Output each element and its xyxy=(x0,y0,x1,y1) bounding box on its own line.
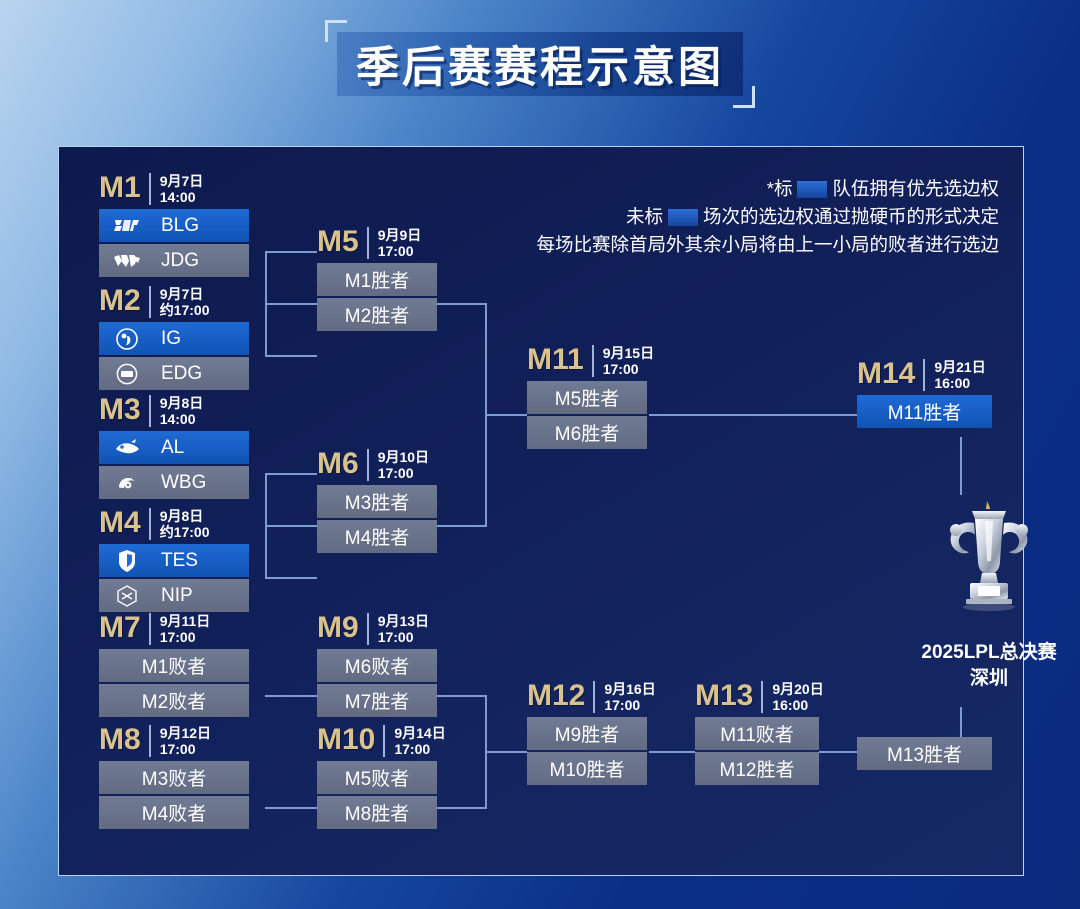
match-time-m6: 17:00 xyxy=(378,465,429,481)
wbg-logo xyxy=(107,473,147,493)
match-time-m8: 17:00 xyxy=(160,741,211,757)
match-datetime-m14: 9月21日 16:00 xyxy=(923,359,985,391)
match-slot-label-m6-1: M4胜者 xyxy=(317,523,437,550)
match-date-m4: 9月8日 xyxy=(160,508,210,524)
match-datetime-m12: 9月16日 17:00 xyxy=(593,681,655,713)
match-time-m11: 17:00 xyxy=(603,361,654,377)
match-time-m5: 17:00 xyxy=(378,243,422,259)
match-date-m11: 9月15日 xyxy=(603,345,654,361)
legend-line-1-before: *标 xyxy=(767,175,793,203)
match-date-m5: 9月9日 xyxy=(378,227,422,243)
page-title: 季后赛赛程示意图 xyxy=(337,32,743,96)
match-slot-label-m2-0: IG xyxy=(147,328,181,350)
legend-line-1-after: 队伍拥有优先选边权 xyxy=(832,175,999,203)
match-slot-label-m11-0: M5胜者 xyxy=(527,384,647,411)
match-time-m13: 16:00 xyxy=(772,697,823,713)
page-title-banner: 季后赛赛程示意图 xyxy=(325,20,755,108)
connector-m7-out xyxy=(265,695,317,697)
match-slot-label-m7-1: M2败者 xyxy=(99,687,249,714)
match-code-m7: M7 xyxy=(99,613,141,643)
match-slot-m11-1[interactable]: M6胜者 xyxy=(527,416,647,449)
match-slot-m1-1[interactable]: JDG xyxy=(99,244,249,277)
connector-m13-out xyxy=(819,751,857,753)
banner-background: 季后赛赛程示意图 xyxy=(337,32,743,96)
match-slot-label-m3-0: AL xyxy=(147,437,184,459)
match-header-m12: M12 9月16日 17:00 xyxy=(527,681,656,715)
match-code-m12: M12 xyxy=(527,681,585,711)
connector-to-m11 xyxy=(485,414,527,416)
nip-logo xyxy=(107,585,147,607)
match-slot-m13-1[interactable]: M12胜者 xyxy=(695,752,819,785)
match-slot-label-m9-0: M6败者 xyxy=(317,652,437,679)
match-datetime-m1: 9月7日 14:00 xyxy=(149,173,204,205)
match-slot-label-m6-0: M3胜者 xyxy=(317,488,437,515)
legend-line-3-text: 每场比赛除首局外其余小局将由上一小局的败者进行选边 xyxy=(536,231,999,259)
match-slot-m12-1[interactable]: M10胜者 xyxy=(527,752,647,785)
match-slot-m14-0[interactable]: M11胜者 xyxy=(857,395,992,428)
match-block-m8: M8 9月12日 17:00 M3败者 M4败者 xyxy=(99,725,249,829)
match-slot-label-m13-0: M11败者 xyxy=(695,720,819,747)
match-header-m13: M13 9月20日 16:00 xyxy=(695,681,824,715)
match-slot-m11-0[interactable]: M5胜者 xyxy=(527,381,647,414)
match-header-m8: M8 9月12日 17:00 xyxy=(99,725,249,759)
connector-m1-out xyxy=(265,251,317,253)
match-code-m11: M11 xyxy=(527,345,584,375)
match-header-m7: M7 9月11日 17:00 xyxy=(99,613,249,647)
match-slot-label-m10-1: M8胜者 xyxy=(317,799,437,826)
match-slot-m5-0[interactable]: M1胜者 xyxy=(317,263,437,296)
match-slot-m5-1[interactable]: M2胜者 xyxy=(317,298,437,331)
match-header-m9: M9 9月13日 17:00 xyxy=(317,613,437,647)
match-slot-m8-0[interactable]: M3败者 xyxy=(99,761,249,794)
match-date-m1: 9月7日 xyxy=(160,173,204,189)
match-slot-m10-0[interactable]: M5败者 xyxy=(317,761,437,794)
connector-m12-to-m13 xyxy=(649,751,695,753)
match-code-m10: M10 xyxy=(317,725,375,755)
connector-m11-to-m14 xyxy=(649,414,857,416)
connector-m14-to-trophy xyxy=(960,437,962,495)
match-slot-m10-1[interactable]: M8胜者 xyxy=(317,796,437,829)
match-time-m10: 17:00 xyxy=(394,741,445,757)
legend: *标 队伍拥有优先选边权 未标 场次的选边权通过抛硬币的形式决定 每场比赛除首局… xyxy=(536,175,999,259)
match-block-m3: M3 9月8日 14:00 AL WBG xyxy=(99,395,249,499)
match-slot-label-m8-0: M3败者 xyxy=(99,764,249,791)
match-time-m2: 约17:00 xyxy=(160,302,210,318)
edg-logo xyxy=(107,363,147,385)
connector-m6-out xyxy=(431,525,487,527)
trophy-caption-line2: 深圳 xyxy=(899,666,1079,692)
match-time-m7: 17:00 xyxy=(160,629,211,645)
tes-logo xyxy=(107,549,147,573)
connector-m9-out xyxy=(431,695,487,697)
match-date-m3: 9月8日 xyxy=(160,395,204,411)
match-block-m4: M4 9月8日 约17:00 TES NIP xyxy=(99,508,249,612)
match-block-m11: M11 9月15日 17:00 M5胜者 M6胜者 xyxy=(527,345,654,449)
match-time-m1: 14:00 xyxy=(160,189,204,205)
match-block-m2: M2 9月7日 约17:00 IG EDG xyxy=(99,286,249,390)
match-datetime-m6: 9月10日 17:00 xyxy=(367,449,429,481)
legend-line-2-after: 场次的选边权通过抛硬币的形式决定 xyxy=(703,203,999,231)
match-time-m12: 17:00 xyxy=(604,697,655,713)
match-header-m14: M14 9月21日 16:00 xyxy=(857,359,992,393)
match-header-m1: M1 9月7日 14:00 xyxy=(99,173,249,207)
match-header-m2: M2 9月7日 约17:00 xyxy=(99,286,249,320)
match-datetime-m9: 9月13日 17:00 xyxy=(367,613,429,645)
match-date-m6: 9月10日 xyxy=(378,449,429,465)
blg-logo xyxy=(107,217,147,235)
connector-m3-out xyxy=(265,473,317,475)
match-code-m1: M1 xyxy=(99,173,141,203)
connector-to-m5 xyxy=(265,303,317,305)
legend-swatch-icon xyxy=(797,181,827,198)
match-slot-m7-1[interactable]: M2败者 xyxy=(99,684,249,717)
match-slot-m6-0[interactable]: M3胜者 xyxy=(317,485,437,518)
match-date-m7: 9月11日 xyxy=(160,613,211,629)
jdg-logo xyxy=(107,252,147,270)
match-code-m8: M8 xyxy=(99,725,141,755)
connector-m4-out xyxy=(265,577,317,579)
match-slot-m1-0[interactable]: BLG xyxy=(99,209,249,242)
match-time-m4: 约17:00 xyxy=(160,524,210,540)
match-code-m4: M4 xyxy=(99,508,141,538)
match-slot-m7-0[interactable]: M1败者 xyxy=(99,649,249,682)
match-slot-label-m4-1: NIP xyxy=(147,585,193,607)
connector-m5-out xyxy=(431,303,487,305)
match-datetime-m3: 9月8日 14:00 xyxy=(149,395,204,427)
match-datetime-m8: 9月12日 17:00 xyxy=(149,725,211,757)
match-code-m3: M3 xyxy=(99,395,141,425)
match-slot-m8-1[interactable]: M4败者 xyxy=(99,796,249,829)
bracket-panel: *标 队伍拥有优先选边权 未标 场次的选边权通过抛硬币的形式决定 每场比赛除首局… xyxy=(58,146,1024,876)
match-slot-m2-0[interactable]: IG xyxy=(99,322,249,355)
match-date-m14: 9月21日 xyxy=(934,359,985,375)
match-date-m2: 9月7日 xyxy=(160,286,210,302)
match-datetime-m13: 9月20日 16:00 xyxy=(761,681,823,713)
match-slot-label-m3-1: WBG xyxy=(147,472,206,494)
match-slot-label-m9-1: M7胜者 xyxy=(317,687,437,714)
match-header-m5: M5 9月9日 17:00 xyxy=(317,227,437,261)
match-time-m14: 16:00 xyxy=(934,375,985,391)
match-slot-m2-1[interactable]: EDG xyxy=(99,357,249,390)
match-slot-label-m12-0: M9胜者 xyxy=(527,720,647,747)
match-slot-m4-1[interactable]: NIP xyxy=(99,579,249,612)
match-block-m1: M1 9月7日 14:00 BLG JDG xyxy=(99,173,249,277)
trophy-caption-line1: 2025LPL总决赛 xyxy=(899,640,1079,666)
match-date-m8: 9月12日 xyxy=(160,725,211,741)
match-header-m11: M11 9月15日 17:00 xyxy=(527,345,654,379)
match-slot-m3-0[interactable]: AL xyxy=(99,431,249,464)
match-code-m6: M6 xyxy=(317,449,359,479)
match-slot-label-m4-0: TES xyxy=(147,550,198,572)
match-slot-label-m5-1: M2胜者 xyxy=(317,301,437,328)
match-block-m7: M7 9月11日 17:00 M1败者 M2败者 xyxy=(99,613,249,717)
connector-m2-out xyxy=(265,355,317,357)
match-block-m10: M10 9月14日 17:00 M5败者 M8胜者 xyxy=(317,725,446,829)
ig-logo xyxy=(107,328,147,350)
match-datetime-m11: 9月15日 17:00 xyxy=(592,345,654,377)
trophy-section: 2025LPL总决赛 深圳 xyxy=(899,499,1079,692)
connector-to-m6 xyxy=(265,525,317,527)
legend-line-2: 未标 场次的选边权通过抛硬币的形式决定 xyxy=(536,203,999,231)
match-date-m12: 9月16日 xyxy=(604,681,655,697)
match-slot-label-m2-1: EDG xyxy=(147,363,202,385)
match-slot-label-m8-1: M4败者 xyxy=(99,799,249,826)
match-block-m14: M14 9月21日 16:00 M11胜者 xyxy=(857,359,992,428)
legend-line-3: 每场比赛除首局外其余小局将由上一小局的败者进行选边 xyxy=(536,231,999,259)
match-slot-label-m11-1: M6胜者 xyxy=(527,419,647,446)
match-time-m9: 17:00 xyxy=(378,629,429,645)
match-slot-label-m7-0: M1败者 xyxy=(99,652,249,679)
legend-line-1: *标 队伍拥有优先选边权 xyxy=(536,175,999,203)
match-datetime-m4: 9月8日 约17:00 xyxy=(149,508,210,540)
match-slot-m6-1[interactable]: M4胜者 xyxy=(317,520,437,553)
match-code-m5: M5 xyxy=(317,227,359,257)
al-logo xyxy=(107,438,147,458)
match-header-m10: M10 9月14日 17:00 xyxy=(317,725,446,759)
match-slot-label-m5-0: M1胜者 xyxy=(317,266,437,293)
match-datetime-m5: 9月9日 17:00 xyxy=(367,227,422,259)
match-code-m2: M2 xyxy=(99,286,141,316)
match-header-m3: M3 9月8日 14:00 xyxy=(99,395,249,429)
connector-to-m12 xyxy=(485,751,527,753)
legend-swatch-icon-2 xyxy=(668,209,698,226)
match-header-m4: M4 9月8日 约17:00 xyxy=(99,508,249,542)
match-slot-label-m1-0: BLG xyxy=(147,215,199,237)
match-datetime-m7: 9月11日 17:00 xyxy=(149,613,211,645)
match-slot-label-m1-1: JDG xyxy=(147,250,199,272)
match-block-m12: M12 9月16日 17:00 M9胜者 M10胜者 xyxy=(527,681,656,785)
match-header-m6: M6 9月10日 17:00 xyxy=(317,449,437,483)
match-slot-label-m13-1: M12胜者 xyxy=(695,755,819,782)
match-code-m13: M13 xyxy=(695,681,753,711)
final-winner-box[interactable]: M13胜者 xyxy=(857,737,992,770)
match-slot-m9-1[interactable]: M7胜者 xyxy=(317,684,437,717)
match-date-m10: 9月14日 xyxy=(394,725,445,741)
match-time-m3: 14:00 xyxy=(160,411,204,427)
match-date-m13: 9月20日 xyxy=(772,681,823,697)
trophy-caption: 2025LPL总决赛 深圳 xyxy=(899,640,1079,692)
connector-m8-out xyxy=(265,807,317,809)
match-slot-m13-0[interactable]: M11败者 xyxy=(695,717,819,750)
match-code-m9: M9 xyxy=(317,613,359,643)
match-slot-m3-1[interactable]: WBG xyxy=(99,466,249,499)
match-block-m13: M13 9月20日 16:00 M11败者 M12胜者 xyxy=(695,681,824,785)
match-slot-label-m10-0: M5败者 xyxy=(317,764,437,791)
match-datetime-m10: 9月14日 17:00 xyxy=(383,725,445,757)
match-datetime-m2: 9月7日 约17:00 xyxy=(149,286,210,318)
legend-line-2-before: 未标 xyxy=(626,203,663,231)
match-slot-m12-0[interactable]: M9胜者 xyxy=(527,717,647,750)
match-block-m6: M6 9月10日 17:00 M3胜者 M4胜者 xyxy=(317,449,437,553)
match-slot-label-m14-0: M11胜者 xyxy=(857,398,992,425)
match-code-m14: M14 xyxy=(857,359,915,389)
final-winner-label: M13胜者 xyxy=(857,740,992,767)
match-block-m9: M9 9月13日 17:00 M6败者 M7胜者 xyxy=(317,613,437,717)
trophy-icon xyxy=(930,499,1048,631)
match-block-m5: M5 9月9日 17:00 M1胜者 M2胜者 xyxy=(317,227,437,331)
match-date-m9: 9月13日 xyxy=(378,613,429,629)
match-slot-m4-0[interactable]: TES xyxy=(99,544,249,577)
match-slot-m9-0[interactable]: M6败者 xyxy=(317,649,437,682)
match-slot-label-m12-1: M10胜者 xyxy=(527,755,647,782)
